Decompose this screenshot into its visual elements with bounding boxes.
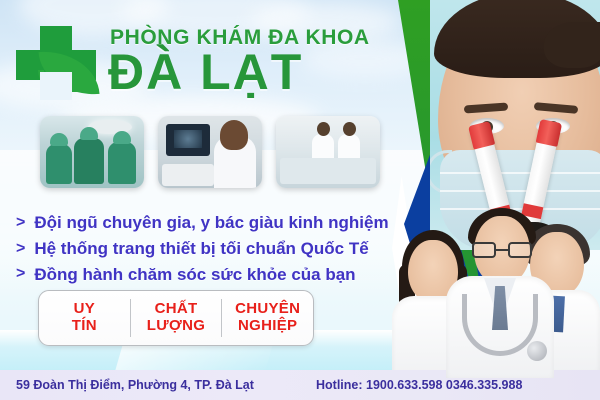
clinic-hotline: Hotline: 1900.633.598 0346.335.988 <box>316 378 522 392</box>
clinic-title: ĐÀ LẠT <box>108 47 303 97</box>
chevron-right-icon: > <box>16 237 25 261</box>
eyeglasses-icon <box>472 242 532 258</box>
value-line-2: TÍN <box>72 318 97 335</box>
list-item-label: Đội ngũ chuyên gia, y bác giàu kinh nghi… <box>34 210 388 236</box>
chevron-right-icon: > <box>16 211 25 235</box>
value-pillar-chuyen-nghiep: CHUYÊN NGHIỆP <box>222 291 313 345</box>
value-line-1: UY <box>74 301 95 318</box>
chevron-right-icon: > <box>16 262 25 286</box>
value-pillar-chat-luong: CHẤT LƯỢNG <box>131 291 222 345</box>
value-line-1: CHẤT <box>155 301 198 318</box>
clinic-banner: PHÒNG KHÁM ĐA KHOA ĐÀ LẠT > Đội ngũ chuy… <box>0 0 600 400</box>
technician-hair <box>434 0 600 78</box>
list-item: > Đội ngũ chuyên gia, y bác giàu kinh ng… <box>16 210 389 236</box>
list-item-label: Đồng hành chăm sóc sức khỏe của bạn <box>34 262 355 288</box>
ultrasound-exam-photo <box>158 116 262 188</box>
clinic-address: 59 Đoàn Thị Điểm, Phường 4, TP. Đà Lạt <box>16 378 254 392</box>
laboratory-photo <box>276 116 380 188</box>
value-line-2: NGHIỆP <box>238 318 297 335</box>
surgery-team-photo <box>40 116 144 188</box>
lead-doctor <box>446 210 554 378</box>
photo-strip <box>40 116 380 188</box>
list-item: > Hệ thống trang thiết bị tối chuẩn Quốc… <box>16 236 389 262</box>
feature-list: > Đội ngũ chuyên gia, y bác giàu kinh ng… <box>16 210 389 287</box>
medical-cross-leaf-icon <box>14 24 100 100</box>
value-line-1: CHUYÊN <box>235 301 300 318</box>
value-pillars-box: UY TÍN CHẤT LƯỢNG CHUYÊN NGHIỆP <box>38 290 314 346</box>
doctors-group-photo <box>390 208 600 378</box>
value-line-2: LƯỢNG <box>147 318 205 335</box>
list-item: > Đồng hành chăm sóc sức khỏe của bạn <box>16 262 389 288</box>
list-item-label: Hệ thống trang thiết bị tối chuẩn Quốc T… <box>34 236 368 262</box>
value-pillar-uy-tin: UY TÍN <box>39 291 130 345</box>
